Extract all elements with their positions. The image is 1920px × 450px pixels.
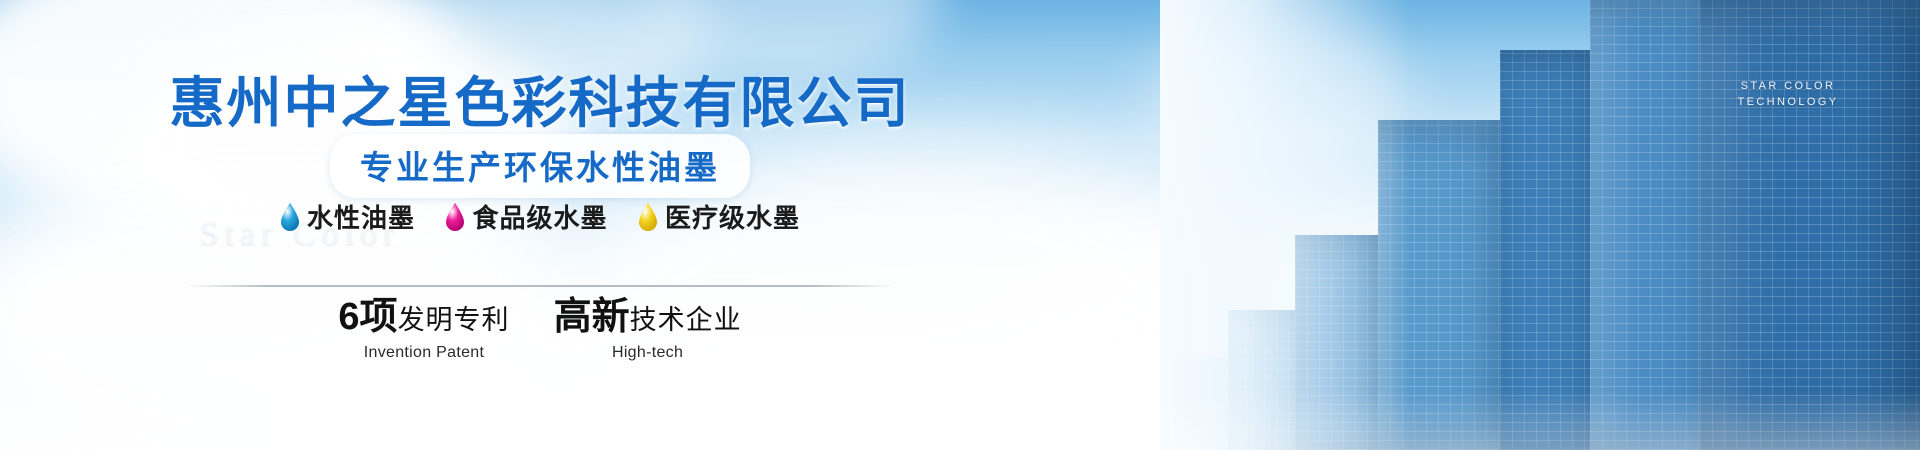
brand-mark-line2: TECHNOLOGY — [1728, 94, 1848, 110]
feature-item: 食品级水墨 — [445, 198, 607, 235]
stat-main: 6项发明专利 — [338, 298, 509, 336]
building-shape — [1700, 0, 1920, 450]
water-drop-icon — [280, 203, 300, 231]
water-drop-icon — [638, 203, 658, 231]
section-divider — [185, 285, 895, 287]
feature-label: 医疗级水墨 — [665, 198, 800, 235]
banner-content: 惠州中之星色彩科技有限公司 专业生产环保水性油墨 水性油墨 — [0, 0, 1080, 450]
stat-small-text: 发明专利 — [398, 305, 510, 335]
city-skyline-image — [1160, 0, 1920, 450]
feature-label: 食品级水墨 — [472, 198, 607, 235]
stat-small-text: 技术企业 — [630, 305, 742, 335]
stats-row: 6项发明专利 Invention Patent 高新技术企业 High-tech — [0, 298, 1080, 362]
city-left-fade — [1160, 0, 1410, 450]
stat-item: 6项发明专利 Invention Patent — [338, 298, 509, 362]
feature-item: 医疗级水墨 — [638, 198, 800, 235]
brand-mark: STAR COLOR TECHNOLOGY — [1728, 78, 1848, 110]
company-title: 惠州中之星色彩科技有限公司 — [0, 58, 1080, 138]
hero-banner: Star Color STAR COLOR TECHNOLOGY 惠州中之星色彩… — [0, 0, 1920, 450]
city-bottom-fade — [1160, 390, 1920, 450]
stat-main: 高新技术企业 — [554, 298, 742, 336]
subtitle-row: 专业生产环保水性油墨 — [0, 134, 1080, 198]
water-drop-icon — [445, 203, 465, 231]
brand-mark-line1: STAR COLOR — [1728, 78, 1848, 94]
feature-label: 水性油墨 — [307, 198, 415, 235]
stat-big-text: 高新 — [554, 296, 630, 338]
stat-english-label: High-tech — [554, 344, 742, 362]
stat-big-text: 6项 — [338, 296, 397, 338]
feature-list: 水性油墨 食品级水墨 — [0, 198, 1080, 236]
subtitle-pill: 专业生产环保水性油墨 — [330, 134, 750, 198]
stat-english-label: Invention Patent — [338, 344, 509, 362]
stat-item: 高新技术企业 High-tech — [554, 298, 742, 362]
feature-item: 水性油墨 — [280, 198, 415, 235]
